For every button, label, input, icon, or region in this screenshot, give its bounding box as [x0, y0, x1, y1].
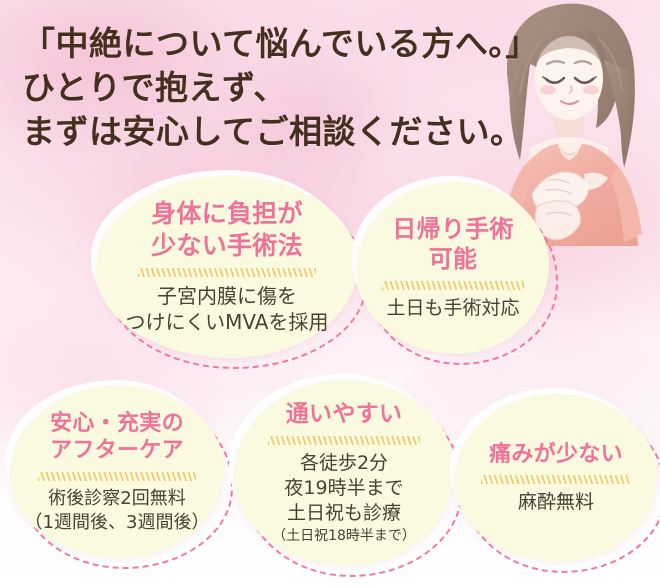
bubble-content: 通いやすい 各徒歩2分 夜19時半まで 土日祝も診療 （土日祝18時半まで）	[234, 380, 454, 566]
feature-bubble: 痛みが少ない 麻酔無料	[455, 394, 657, 562]
bubble-body-line: つけにくいMVAを採用	[126, 309, 329, 335]
bubble-body-line: 土日祝も診療	[284, 501, 403, 526]
bubble-title-line: 少ない手術法	[151, 230, 303, 261]
headline: 「中絶について悩んでいる方へ。」 ひとりで抱えず、 まずは安心してご相談ください…	[22, 22, 539, 154]
bubble-body: 土日も手術対応	[386, 296, 519, 321]
hatch-divider	[481, 475, 631, 484]
bubble-body-line: 術後診察2回無料	[25, 487, 210, 511]
hatch-divider	[268, 436, 420, 445]
bubble-title: 安心・充実の アフターケア	[50, 410, 184, 465]
headline-line-2: ひとりで抱えず、	[22, 66, 539, 110]
bubble-body-line: 夜19時半まで	[284, 476, 403, 501]
bubble-body-line: （1週間後、3週間後）	[25, 511, 210, 535]
bubble-title: 身体に負担が 少ない手術法	[151, 198, 303, 261]
bubble-title: 痛みが少ない	[489, 441, 623, 469]
bubble-body-line: 土日も手術対応	[386, 296, 519, 321]
bubble-title-line: 安心・充実の	[50, 410, 184, 438]
bubble-title-line: 日帰り手術	[392, 214, 514, 244]
blush-left	[540, 85, 556, 94]
headline-line-3: まずは安心してご相談ください。	[22, 110, 539, 154]
feature-bubble: 安心・充実の アフターケア 術後診察2回無料 （1週間後、3週間後）	[10, 386, 224, 558]
bubble-title: 通いやすい	[286, 400, 403, 429]
hatch-divider	[382, 281, 524, 290]
hatch-divider	[138, 268, 316, 277]
bubble-content: 痛みが少ない 麻酔無料	[455, 394, 657, 562]
bubble-body-line: 麻酔無料	[518, 490, 594, 515]
bubble-content: 日帰り手術 可能 土日も手術対応	[357, 182, 549, 354]
bubble-title-line: 通いやすい	[286, 400, 403, 429]
feature-bubble: 通いやすい 各徒歩2分 夜19時半まで 土日祝も診療 （土日祝18時半まで）	[234, 380, 454, 566]
bubble-body: 麻酔無料	[518, 490, 594, 515]
bubble-body: 術後診察2回無料 （1週間後、3週間後）	[25, 487, 210, 535]
hatch-divider	[38, 472, 196, 481]
bubble-title-line: 痛みが少ない	[489, 441, 623, 469]
bubble-title-line: 可能	[392, 244, 514, 274]
bubble-content: 身体に負担が 少ない手術法 子宮内膜に傷を つけにくいMVAを採用	[96, 176, 358, 358]
headline-line-1: 「中絶について悩んでいる方へ。」	[22, 22, 539, 66]
bubble-title-line: 身体に負担が	[151, 198, 303, 229]
bubble-body: 子宮内膜に傷を つけにくいMVAを採用	[126, 283, 329, 336]
bubble-body: 各徒歩2分 夜19時半まで 土日祝も診療	[284, 451, 403, 526]
feature-bubble: 日帰り手術 可能 土日も手術対応	[357, 182, 549, 354]
blush-right	[583, 85, 599, 94]
bubble-content: 安心・充実の アフターケア 術後診察2回無料 （1週間後、3週間後）	[10, 386, 224, 558]
feature-bubble: 身体に負担が 少ない手術法 子宮内膜に傷を つけにくいMVAを採用	[96, 176, 358, 358]
banner-root: 「中絶について悩んでいる方へ。」 ひとりで抱えず、 まずは安心してご相談ください…	[0, 0, 660, 586]
bubble-note-line: （土日祝18時半まで）	[272, 527, 416, 545]
bubble-title-line: アフターケア	[50, 437, 184, 465]
bubble-note: （土日祝18時半まで）	[272, 527, 416, 545]
bubble-body-line: 子宮内膜に傷を	[126, 283, 329, 309]
bubble-body-line: 各徒歩2分	[284, 451, 403, 476]
bubble-title: 日帰り手術 可能	[392, 214, 514, 274]
